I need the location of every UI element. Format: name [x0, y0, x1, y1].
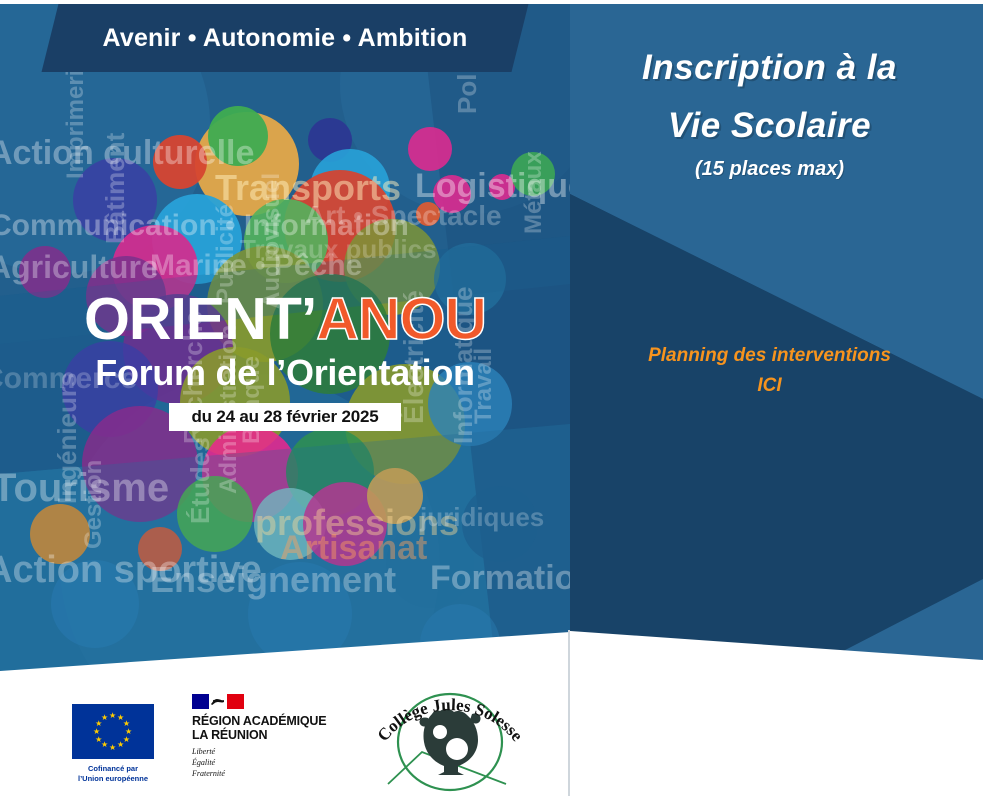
- wordcloud-word: Formation: [430, 559, 570, 598]
- panel-title-line2: Vie Scolaire: [556, 106, 983, 146]
- eu-star-icon: ★: [101, 714, 108, 722]
- wordcloud-word: Marine • Pêche: [150, 249, 362, 283]
- wordcloud-word: Action sportive: [0, 549, 262, 592]
- eu-caption-line1: Cofinancé par: [58, 764, 168, 774]
- planning-link-ici[interactable]: ICI: [556, 375, 983, 397]
- orient-anou-poster: Action socialeAlimentationImprimerieBâti…: [0, 4, 570, 792]
- eu-star-icon: ★: [109, 744, 116, 752]
- planning-label-line1[interactable]: Planning des interventions: [556, 345, 983, 367]
- wordcloud-word: Travaux publics: [240, 234, 437, 265]
- brand-title-white: ORIENT’: [84, 286, 316, 352]
- college-jules-solesse-logo: Collège Jules Solesse: [360, 674, 540, 792]
- eu-star-icon: ★: [93, 728, 100, 736]
- wordcloud-word: Art • Spectacle: [305, 200, 502, 232]
- right-info-panel: Inscription à la Vie Scolaire (15 places…: [556, 4, 983, 796]
- marianne-icon: [210, 696, 226, 707]
- republic-motto: Liberté Égalité Fraternité: [192, 746, 357, 780]
- wordcloud-word: Transports: [215, 167, 401, 209]
- poster-artwork: Action socialeAlimentationImprimerieBâti…: [0, 4, 570, 704]
- wordcloud-word: Tourisme: [0, 466, 169, 511]
- poster-right-edge: [568, 630, 570, 796]
- wordcloud-word: Communication • Information: [0, 209, 409, 243]
- wordcloud-word: Logistique: [415, 167, 570, 206]
- wordcloud-word: professions: [255, 502, 459, 544]
- panel-title-line1: Inscription à la: [556, 48, 983, 88]
- partner-logos: ★★★★★★★★★★★★ Cofinancé par l’Union europ…: [0, 664, 570, 792]
- ra-line1: RÉGION ACADÉMIQUE: [192, 714, 357, 728]
- wordcloud-word: Agriculture: [0, 249, 159, 286]
- motto-egalite: Égalité: [192, 757, 357, 768]
- eu-logo: ★★★★★★★★★★★★ Cofinancé par l’Union europ…: [58, 704, 168, 784]
- eu-star-icon: ★: [95, 736, 102, 744]
- brand-block: ORIENT’ANOU Forum de l’Orientation du 24…: [0, 290, 570, 431]
- ra-line2: LA RÉUNION: [192, 728, 357, 742]
- french-flag-icon: [192, 694, 244, 709]
- eu-caption-line2: l’Union européenne: [58, 774, 168, 784]
- wordcloud-word: Action culturelle: [0, 134, 254, 173]
- eu-star-icon: ★: [109, 712, 116, 720]
- brand-subtitle: Forum de l’Orientation: [0, 355, 570, 391]
- motto-fraternite: Fraternité: [192, 768, 357, 779]
- tagline-text: Avenir • Autonomie • Ambition: [0, 24, 570, 53]
- region-academique-name: RÉGION ACADÉMIQUE LA RÉUNION: [192, 714, 357, 742]
- region-academique-logo: RÉGION ACADÉMIQUE LA RÉUNION Liberté Éga…: [192, 694, 357, 780]
- wordcloud-word: Enseignement: [150, 559, 396, 601]
- eu-flag-icon: ★★★★★★★★★★★★: [72, 704, 154, 759]
- wordcloud-word: juridiques: [420, 502, 544, 533]
- panel-capacity-note: (15 places max): [556, 158, 983, 181]
- motto-liberte: Liberté: [192, 746, 357, 757]
- flyer-canvas: Inscription à la Vie Scolaire (15 places…: [0, 0, 983, 796]
- brand-title: ORIENT’ANOU: [0, 290, 570, 349]
- event-date-chip: du 24 au 28 février 2025: [169, 403, 400, 431]
- wordcloud-word: Artisanat: [280, 529, 427, 568]
- eu-star-icon: ★: [117, 741, 124, 749]
- brand-title-orange: ANOU: [316, 286, 486, 352]
- eu-caption: Cofinancé par l’Union européenne: [58, 764, 168, 784]
